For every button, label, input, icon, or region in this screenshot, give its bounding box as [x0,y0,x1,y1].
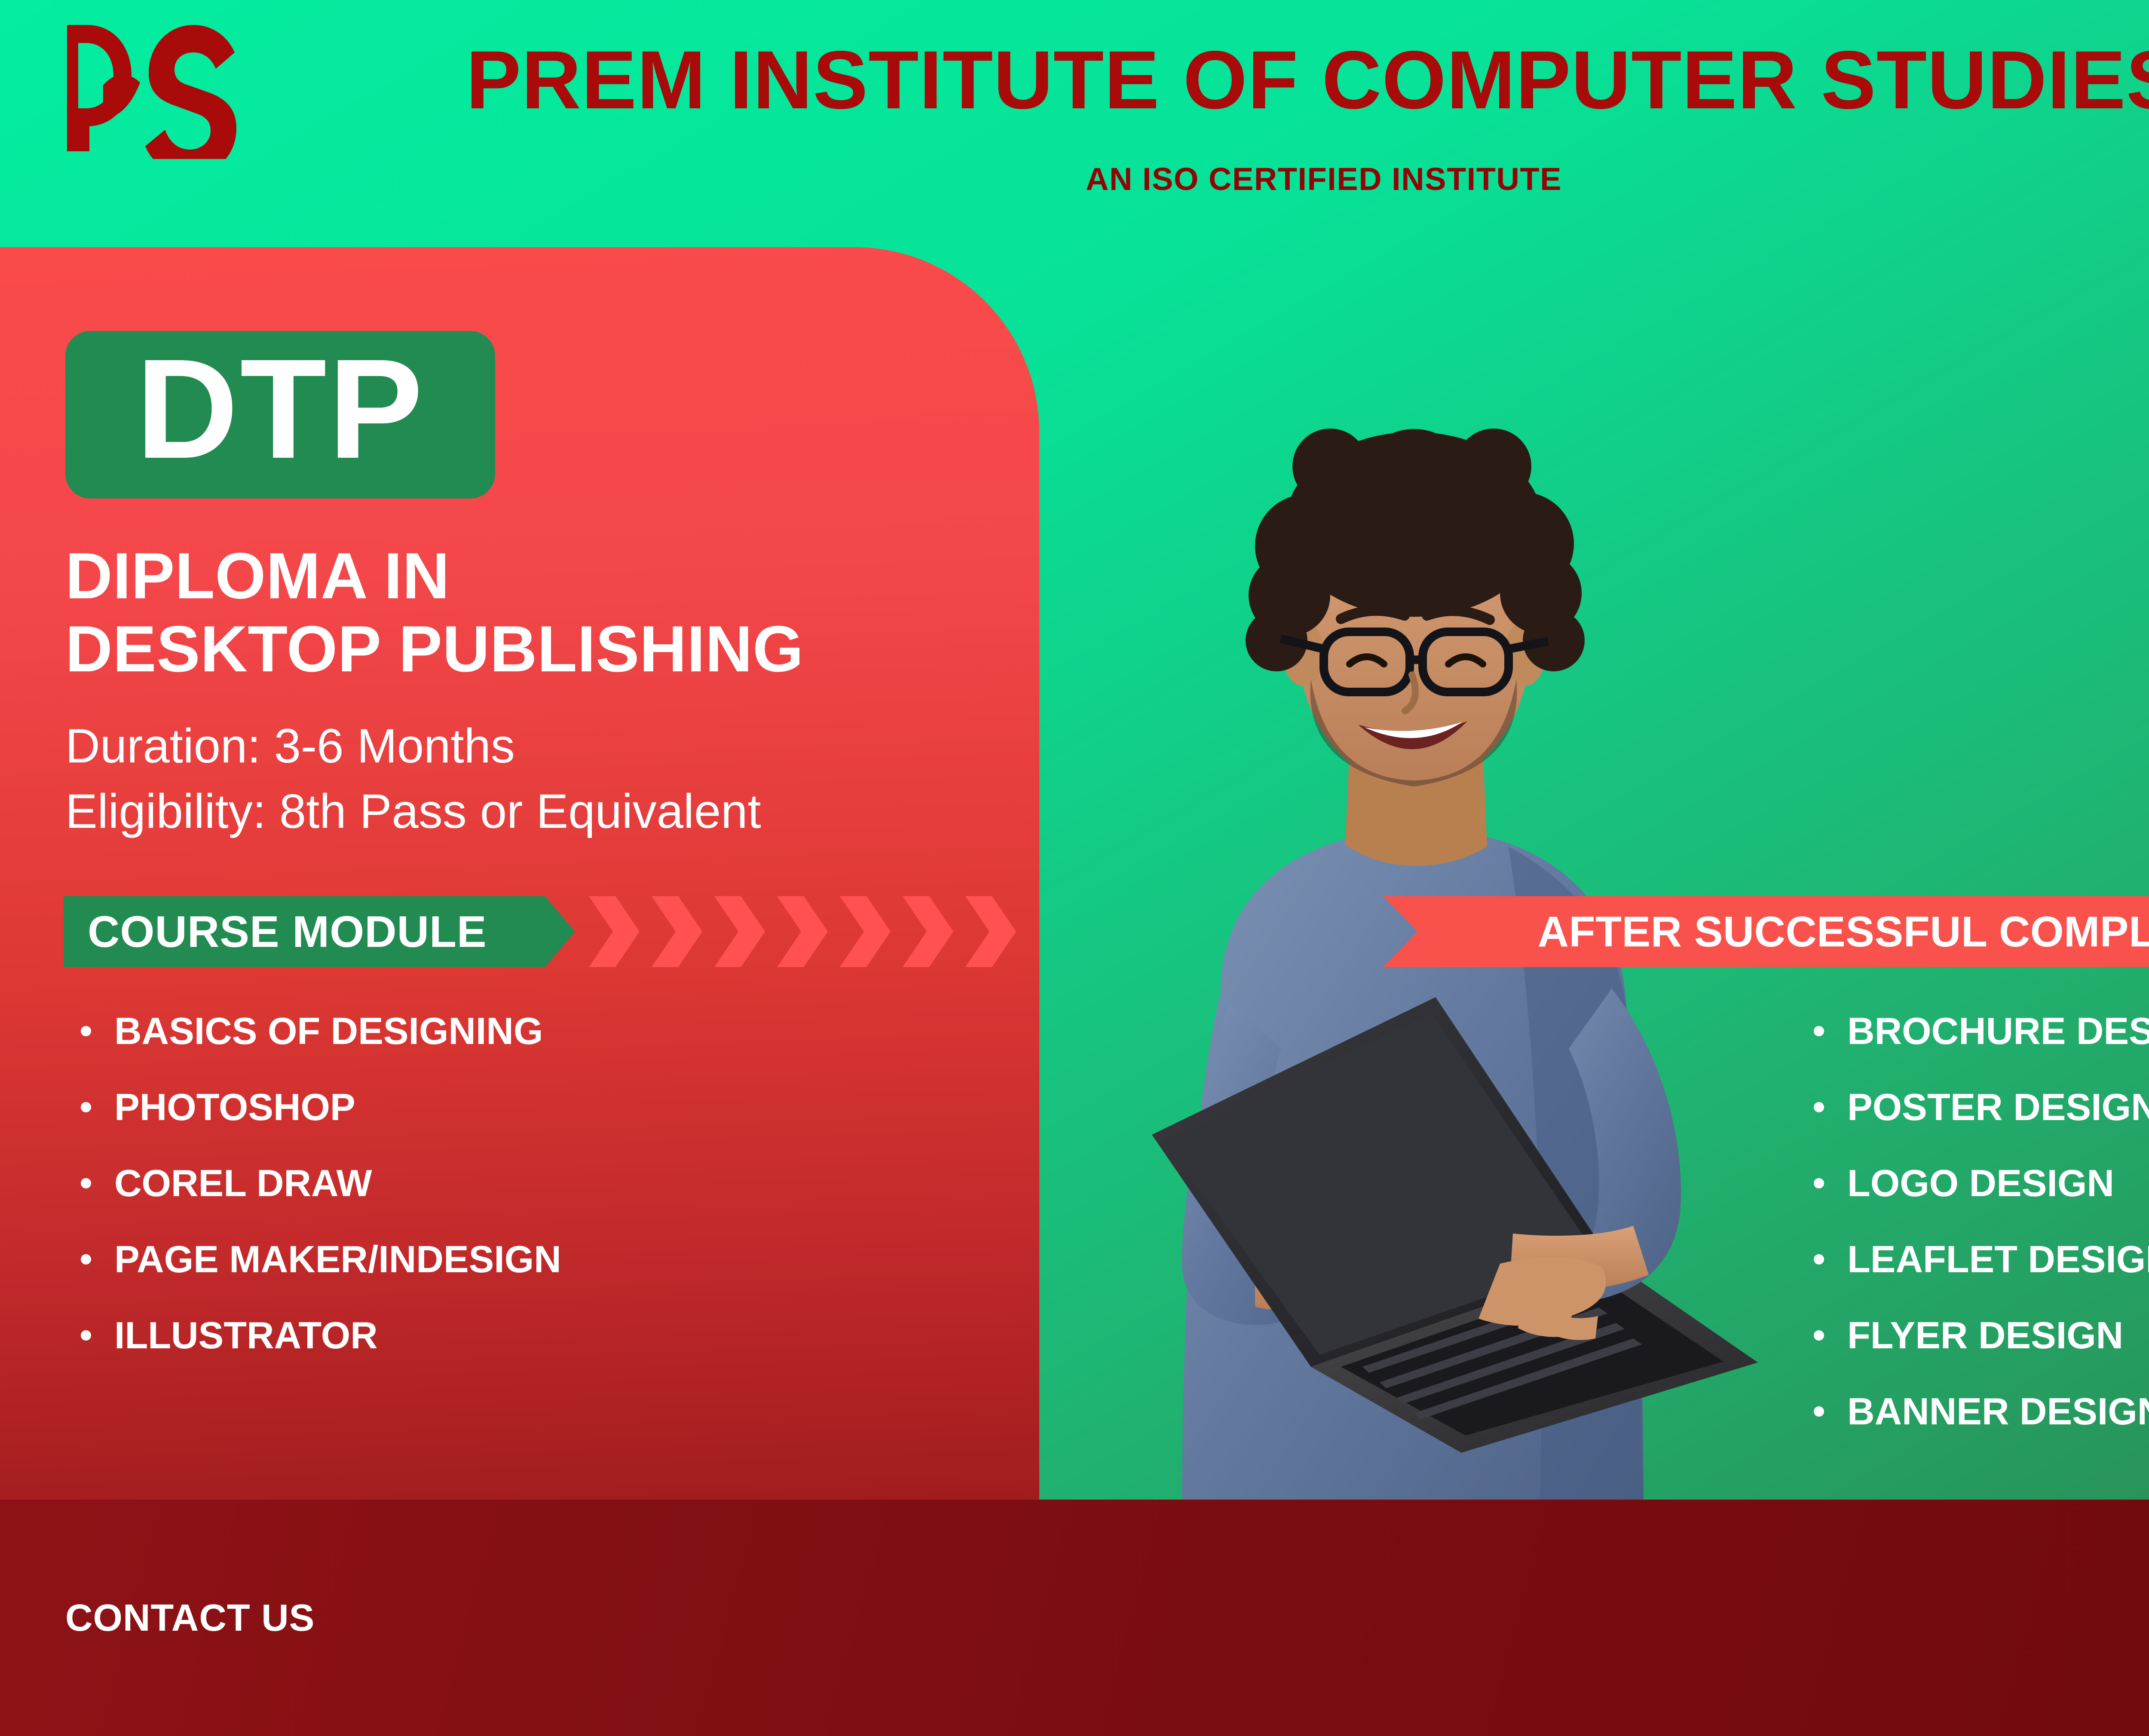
chevron-right-icon [589,896,640,967]
chevron-right-icon [965,896,1016,967]
completion-outcome-banner: AFTER SUCCESSFUL COMPLETION CAN DO [1383,896,2149,967]
chevron-right-icon [714,896,765,967]
list-item: COREL DRAW [64,1164,561,1202]
page-title: PREM INSTITUTE OF COMPUTER STUDIES [378,39,2149,121]
page-subtitle: AN ISO CERTIFIED INSTITUTE [378,163,2149,195]
completion-outcome-list: BROCHURE DESIGN POSTER DESIGN LOGO DESIG… [1797,1012,2149,1469]
chevron-right-icon [903,896,953,967]
list-item: POSTER DESIGN [1797,1088,2149,1126]
chevron-arrows-group [589,896,1044,967]
course-module-banner: COURSE MODULE [64,896,575,967]
header-bar: PREM INSTITUTE OF COMPUTER STUDIES AN IS… [0,0,2149,247]
list-item: LOGO DESIGN [1797,1164,2149,1202]
list-item: BANNER DESIGN [1797,1393,2149,1430]
course-meta: Duration: 3-6 Months Eligibility: 8th Pa… [65,713,1011,845]
list-item: ILLUSTRATOR [64,1317,561,1354]
bottom-dark-band [0,1500,2149,1736]
chevron-right-icon [840,896,891,967]
course-title-line2: DESKTOP PUBLISHING [65,612,989,686]
course-code-label: DTP [136,338,425,480]
course-duration: Duration: 3-6 Months [65,713,1011,779]
list-item: FLYER DESIGN [1797,1317,2149,1354]
completion-outcome-heading: AFTER SUCCESSFUL COMPLETION CAN DO [1538,910,2149,953]
course-title: DIPLOMA IN DESKTOP PUBLISHING [65,539,989,686]
course-code-badge: DTP [65,331,495,499]
list-item: BROCHURE DESIGN [1797,1012,2149,1050]
chevron-right-icon [777,896,828,967]
list-item: BASICS OF DESIGNING [64,1012,561,1050]
chevron-right-icon [652,896,702,967]
list-item: LEAFLET DESIGN [1797,1240,2149,1278]
course-module-heading: COURSE MODULE [88,909,487,954]
course-title-line1: DIPLOMA IN [65,539,989,612]
poster-canvas: PREM INSTITUTE OF COMPUTER STUDIES AN IS… [0,0,2149,1736]
contact-us-label: CONTACT US [65,1599,315,1637]
list-item: PAGE MAKER/INDESIGN [64,1240,561,1278]
ps-logo-icon [52,17,275,159]
list-item: PHOTOSHOP [64,1088,561,1126]
course-module-list: BASICS OF DESIGNING PHOTOSHOP COREL DRAW… [64,1012,561,1393]
course-eligibility: Eligibility: 8th Pass or Equivalent [65,779,1011,844]
